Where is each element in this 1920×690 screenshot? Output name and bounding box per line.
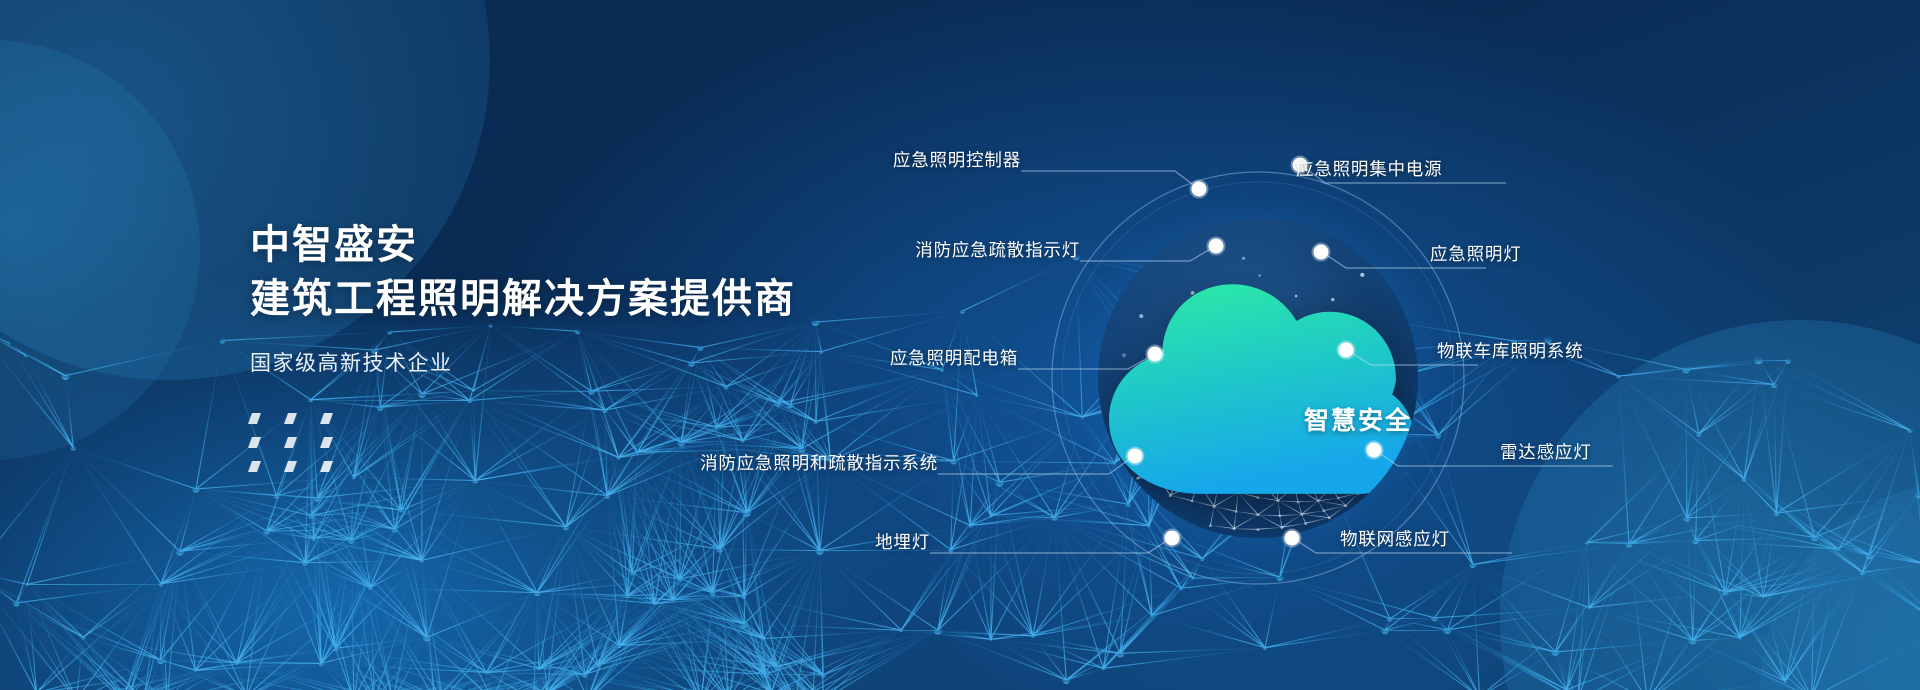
- callout-label-left-3: 应急照明配电箱: [690, 345, 1018, 370]
- cloud-icon: [1098, 218, 1418, 538]
- hub-center-label: 智慧安全: [1271, 401, 1418, 437]
- hub-globe: 智慧安全: [1098, 218, 1418, 538]
- callout-label-right-4: 雷达感应灯: [1500, 439, 1592, 464]
- callout-label-right-1: 应急照明集中电源: [1296, 156, 1442, 181]
- banner-root: 中智盛安 建筑工程照明解决方案提供商 国家级高新技术企业: [0, 0, 1920, 690]
- decorative-dot-grid: [250, 413, 336, 472]
- callout-label-left-5: 地埋灯: [700, 529, 930, 554]
- callout-label-left-2: 消防应急疏散指示灯: [660, 237, 1080, 262]
- callout-label-right-2: 应急照明灯: [1430, 241, 1522, 266]
- central-hub-graphic: 智慧安全: [1048, 168, 1468, 588]
- callout-label-right-5: 物联网感应灯: [1340, 526, 1450, 551]
- callout-label-left-4: 消防应急照明和疏散指示系统: [540, 450, 938, 475]
- page-title-line2: 建筑工程照明解决方案提供商: [250, 272, 796, 326]
- callout-label-left-1: 应急照明控制器: [700, 147, 1021, 172]
- callout-label-right-3: 物联车库照明系统: [1437, 338, 1583, 363]
